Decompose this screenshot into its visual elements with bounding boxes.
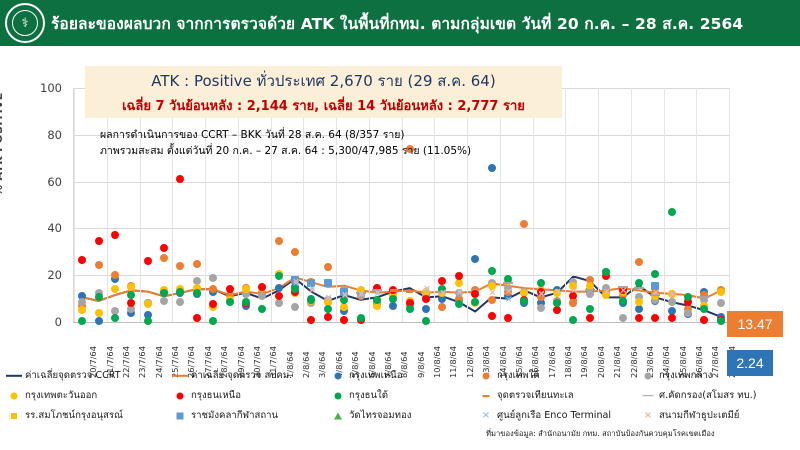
legend-marker-circle-icon <box>172 390 188 402</box>
y-tick-label: 40 <box>22 221 62 235</box>
data-point: × <box>538 290 546 299</box>
legend-marker-line-icon <box>172 370 188 382</box>
legend-item[interactable]: รร.สมโภชน์กรุงอนุสรณ์ <box>6 408 123 423</box>
legend-label: รร.สมโภชน์กรุงอนุสรณ์ <box>25 408 123 423</box>
data-point <box>406 291 413 294</box>
data-point: × <box>620 287 628 296</box>
gridline-vertical <box>729 88 730 322</box>
data-point <box>699 296 709 298</box>
gridline-vertical <box>402 88 403 322</box>
legend-item[interactable]: กรุงเทพตะวันออก <box>6 388 97 403</box>
legend-marker-circle-icon <box>6 390 22 402</box>
data-point <box>585 289 595 291</box>
data-point <box>324 263 332 271</box>
gridline-vertical <box>434 88 435 322</box>
legend-marker-cross-icon: × <box>478 410 494 422</box>
data-point <box>340 303 348 311</box>
legend-marker-line-icon <box>6 370 22 382</box>
data-point: × <box>439 289 447 298</box>
data-point <box>275 284 283 292</box>
annotation-line-4: ภาพรวมสะสม ตั้งแต่วันที่ 20 ก.ค. – 27 ส.… <box>100 142 471 159</box>
legend-label: กรุงเทพเหนือ <box>349 368 403 383</box>
legend-label: ราชมังคลากีฬาสถาน <box>191 408 278 423</box>
gridline-vertical <box>172 88 173 322</box>
y-tick-label: 60 <box>22 175 62 189</box>
annotation-line-1: ATK : Positive ทั่วประเทศ 2,670 ราย (29 … <box>85 69 562 93</box>
y-tick-label: 80 <box>22 128 62 142</box>
data-point: × <box>652 289 660 298</box>
data-point: × <box>374 289 382 298</box>
data-point <box>275 299 283 307</box>
data-point: × <box>505 288 513 297</box>
legend-item[interactable]: ×ศูนย์ลูกเรือ Enco Terminal <box>478 408 611 423</box>
y-tick-label: 20 <box>22 268 62 282</box>
data-point <box>160 297 168 305</box>
data-point <box>144 257 152 265</box>
legend-marker-square-icon <box>172 410 188 422</box>
gridline-vertical <box>696 88 697 322</box>
data-point <box>570 299 577 302</box>
legend-item[interactable]: ×สนามกีฬาธูปะเตมีย์ <box>640 408 739 423</box>
data-point <box>226 298 234 306</box>
gridline-vertical <box>500 88 501 322</box>
data-point <box>160 289 168 297</box>
legend-label: ศ.คัดกรอง(สโมสร ทบ.) <box>659 388 757 403</box>
y-axis-label: % ATK POSITIVE <box>0 92 5 196</box>
data-point <box>340 316 348 324</box>
annotation-box: ATK : Positive ทั่วประเทศ 2,670 ราย (29 … <box>85 66 562 118</box>
legend-marker-circle-icon <box>640 370 656 382</box>
data-point <box>586 305 594 313</box>
legend-marker-dash-icon <box>478 390 494 402</box>
data-point <box>635 298 643 306</box>
data-point: × <box>570 287 578 296</box>
gridline-vertical <box>238 88 239 322</box>
data-point: × <box>489 289 497 298</box>
data-point <box>471 255 479 263</box>
data-point <box>95 237 103 245</box>
data-point <box>95 261 103 269</box>
data-point <box>602 268 610 276</box>
data-point: × <box>669 291 677 300</box>
legend-marker-cross-icon: × <box>640 410 656 422</box>
data-point <box>668 208 676 216</box>
data-point <box>389 295 397 303</box>
data-point <box>422 295 430 303</box>
data-point <box>390 289 397 292</box>
y-tick-label: 100 <box>22 81 62 95</box>
data-point <box>324 279 332 287</box>
data-point: × <box>456 289 464 298</box>
legend-item[interactable]: วัดไทรจอมทอง <box>330 408 411 423</box>
annotation-line-2: เฉลี่ย 7 วันย้อนหลัง : 2,144 ราย, เฉลี่ย… <box>85 95 562 116</box>
data-point <box>569 316 577 324</box>
legend-item[interactable]: ค่าเฉลี่ย จุดตรวจ สปคม. <box>172 368 292 383</box>
data-point <box>520 220 528 228</box>
legend-marker-diamond-icon <box>6 410 22 422</box>
legend-label: กรุงธนใต้ <box>349 388 388 403</box>
legend-marker-circle-icon <box>330 370 346 382</box>
data-point <box>537 304 545 312</box>
annotation-line-3: ผลการดำเนินการของ CCRT – BKK วันที่ 28 ส… <box>100 126 404 143</box>
legend-label: กรุงธนเหนือ <box>191 388 241 403</box>
legend-label: กรุงเทพตะวันออก <box>25 388 97 403</box>
data-point <box>193 260 201 268</box>
data-point <box>488 267 496 275</box>
data-point <box>634 287 644 289</box>
caduceus-glyph: ⚕ <box>12 10 38 36</box>
gridline-vertical <box>533 88 534 322</box>
legend-item[interactable]: กรุงธนใต้ <box>330 388 388 403</box>
gridline-vertical <box>565 88 566 322</box>
gridline-vertical <box>369 88 370 322</box>
data-point: × <box>325 294 333 303</box>
legend-item[interactable]: ราชมังคลากีฬาสถาน <box>172 408 278 423</box>
gridline-vertical <box>140 88 141 322</box>
data-point <box>503 282 513 284</box>
data-point <box>717 288 725 296</box>
data-point <box>291 303 299 311</box>
data-point <box>684 309 692 317</box>
data-point <box>160 254 168 262</box>
data-point <box>226 285 234 293</box>
legend-marker-circle-icon <box>478 370 494 382</box>
legend-item[interactable]: กรุงเทพกลาง <box>640 368 712 383</box>
data-point: × <box>603 288 611 297</box>
gridline-vertical <box>664 88 665 322</box>
data-point <box>209 274 217 282</box>
data-point: × <box>308 287 316 296</box>
callout-spkm-value: 13.47 <box>727 311 783 337</box>
legend-item[interactable]: ค่าเฉลี่ยจุดตรวจ CCRT <box>6 368 121 383</box>
legend-label: กรุงเทพใต้ <box>497 368 540 383</box>
data-point: × <box>341 292 349 301</box>
data-point <box>95 309 103 317</box>
data-point: × <box>423 285 431 294</box>
data-point <box>95 293 103 301</box>
legend-label: ค่าเฉลี่ย จุดตรวจ สปคม. <box>191 368 292 383</box>
legend-label: ค่าเฉลี่ยจุดตรวจ CCRT <box>25 368 121 383</box>
data-point <box>291 248 299 256</box>
gridline-vertical <box>205 88 206 322</box>
legend-item[interactable]: กรุงธนเหนือ <box>172 388 241 403</box>
legend-marker-circle-icon <box>330 390 346 402</box>
page-title: ร้อยละของผลบวก จากการตรวจด้วย ATK ในพื้น… <box>51 11 743 36</box>
legend-label: สนามกีฬาธูปะเตมีย์ <box>659 408 739 423</box>
gridline-vertical <box>467 88 468 322</box>
gridline-vertical <box>107 88 108 322</box>
data-point <box>700 316 708 324</box>
data-point <box>193 289 201 297</box>
legend-label: วัดไทรจอมทอง <box>349 408 411 423</box>
gridline-vertical <box>271 88 272 322</box>
data-point <box>488 164 496 172</box>
data-point <box>275 237 283 245</box>
data-point <box>275 292 283 300</box>
chart-legend: ค่าเฉลี่ยจุดตรวจ CCRTค่าเฉลี่ย จุดตรวจ ส… <box>0 368 800 428</box>
plot-area: ×××××××××××××××××××××××××××××××××××× <box>73 88 729 323</box>
legend-label: กรุงเทพกลาง <box>659 368 712 383</box>
data-point <box>324 305 332 313</box>
data-point <box>307 316 315 324</box>
gridline-vertical <box>74 88 75 322</box>
data-point <box>242 298 250 306</box>
data-point <box>488 312 496 320</box>
legend-item[interactable]: ศ.คัดกรอง(สโมสร ทบ.) <box>640 388 757 403</box>
data-point <box>406 305 414 313</box>
gridline-vertical <box>303 88 304 322</box>
page-header: ⚕ ร้อยละของผลบวก จากการตรวจด้วย ATK ในพื… <box>0 0 800 46</box>
data-point <box>619 297 627 305</box>
legend-item[interactable]: จุดตรวจเทียนทะเล <box>478 388 574 403</box>
source-note: ที่มาของข้อมูล: สำนักอนามัย กทม. สถาบันป… <box>486 428 715 440</box>
y-tick-label: 0 <box>22 315 62 329</box>
data-point <box>389 302 397 310</box>
legend-label: ศูนย์ลูกเรือ Enco Terminal <box>497 408 611 423</box>
legend-marker-triangle-icon <box>330 410 346 422</box>
gridline-vertical <box>336 88 337 322</box>
data-point: × <box>554 288 562 297</box>
data-point: × <box>358 291 366 300</box>
legend-item[interactable]: กรุงเทพเหนือ <box>330 368 403 383</box>
legend-marker-dashlong-icon <box>640 390 656 402</box>
legend-label: จุดตรวจเทียนทะเล <box>497 388 574 403</box>
ministry-logo-icon: ⚕ <box>5 3 45 43</box>
data-point: × <box>505 296 513 305</box>
gridline-vertical <box>598 88 599 322</box>
legend-item[interactable]: กรุงเทพใต้ <box>478 368 540 383</box>
gridline-vertical <box>631 88 632 322</box>
chart-container: % ATK POSITIVE 020406080100 ××××××××××××… <box>0 46 800 450</box>
data-point: × <box>292 278 300 287</box>
